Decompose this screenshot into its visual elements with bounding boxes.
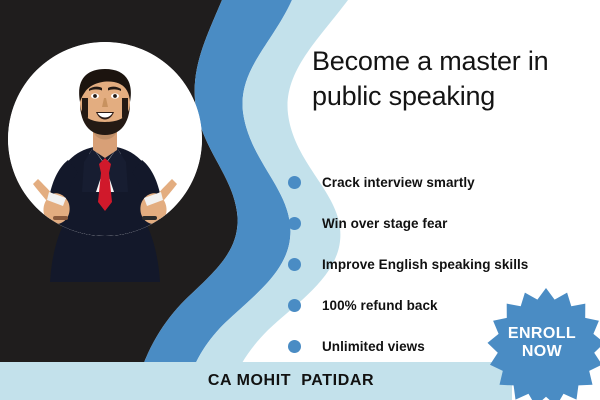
starburst-shape bbox=[488, 288, 600, 400]
bullet-dot-icon bbox=[288, 299, 301, 312]
list-item: Crack interview smartly bbox=[288, 162, 594, 203]
bullet-dot-icon bbox=[288, 258, 301, 271]
presenter-illustration bbox=[8, 42, 202, 236]
bullet-dot-icon bbox=[288, 217, 301, 230]
list-item: Improve English speaking skills bbox=[288, 244, 594, 285]
list-item-label: Unlimited views bbox=[322, 339, 425, 354]
list-item-label: Crack interview smartly bbox=[322, 175, 475, 190]
list-item: Win over stage fear bbox=[288, 203, 594, 244]
presenter-name: CA MOHIT PATIDAR bbox=[0, 362, 512, 400]
list-item-label: 100% refund back bbox=[322, 298, 438, 313]
list-item-label: Improve English speaking skills bbox=[322, 257, 528, 272]
bullet-dot-icon bbox=[288, 340, 301, 353]
headline-line-1: Become a master in bbox=[312, 44, 590, 79]
page-title: Become a master in public speaking bbox=[312, 44, 590, 113]
list-item-label: Win over stage fear bbox=[322, 216, 447, 231]
presenter-avatar bbox=[8, 42, 202, 236]
enroll-now-button[interactable] bbox=[486, 286, 600, 400]
headline-line-2: public speaking bbox=[312, 79, 590, 114]
promo-banner: Become a master in public speaking Crack… bbox=[0, 0, 600, 400]
bullet-dot-icon bbox=[288, 176, 301, 189]
